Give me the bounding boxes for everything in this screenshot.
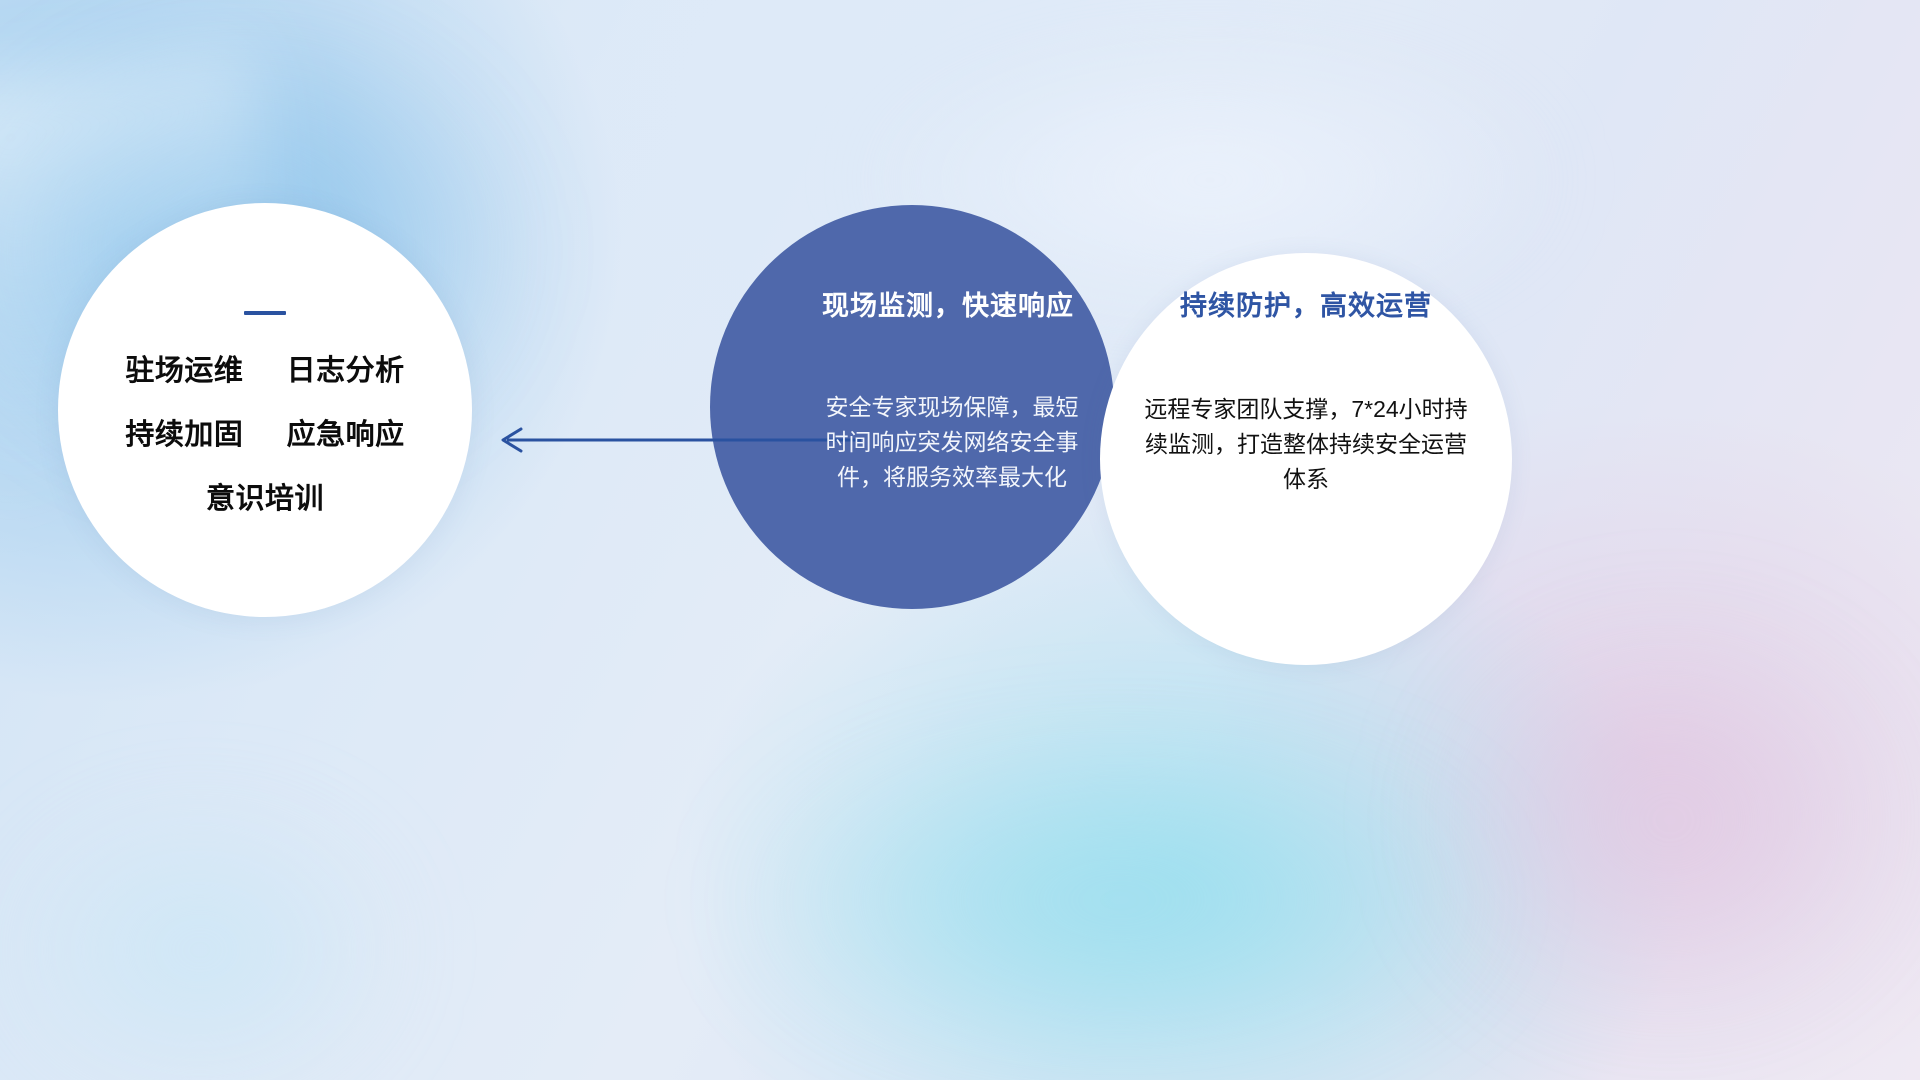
left-tag-5: 意识培训 bbox=[206, 483, 324, 515]
background-glow-bottom-left bbox=[0, 760, 460, 1080]
middle-circle-body: 安全专家现场保障，最短时间响应突发网络安全事件，将服务效率最大化 bbox=[823, 390, 1081, 495]
middle-circle-title: 现场监测，快速响应 bbox=[822, 293, 1074, 320]
left-circle-line-1: 驻场运维 日志分析 bbox=[125, 357, 404, 386]
right-circle-title: 持续防护，高效运营 bbox=[1180, 293, 1432, 320]
left-tag-4: 应急响应 bbox=[287, 419, 405, 451]
left-tag-2: 日志分析 bbox=[287, 355, 405, 387]
right-circle-content: 持续防护，高效运营 远程专家团队支撑，7*24小时持续监测，打造整体持续安全运营… bbox=[1100, 253, 1512, 665]
accent-dash bbox=[244, 311, 286, 315]
left-tag-1: 驻场运维 bbox=[125, 355, 243, 387]
left-circle-line-3: 意识培训 bbox=[206, 485, 324, 514]
left-tag-3: 持续加固 bbox=[125, 419, 243, 451]
right-circle-body: 远程专家团队支撑，7*24小时持续监测，打造整体持续安全运营体系 bbox=[1136, 392, 1476, 497]
slide-canvas: 驻场运维 日志分析 持续加固 应急响应 意识培训 现场监测，快速响应 安全专家现… bbox=[0, 0, 1920, 1080]
left-circle-content: 驻场运维 日志分析 持续加固 应急响应 意识培训 bbox=[58, 203, 472, 617]
left-circle-line-2: 持续加固 应急响应 bbox=[125, 421, 404, 450]
middle-circle-content: 现场监测，快速响应 安全专家现场保障，最短时间响应突发网络安全事件，将服务效率最… bbox=[710, 205, 1114, 609]
